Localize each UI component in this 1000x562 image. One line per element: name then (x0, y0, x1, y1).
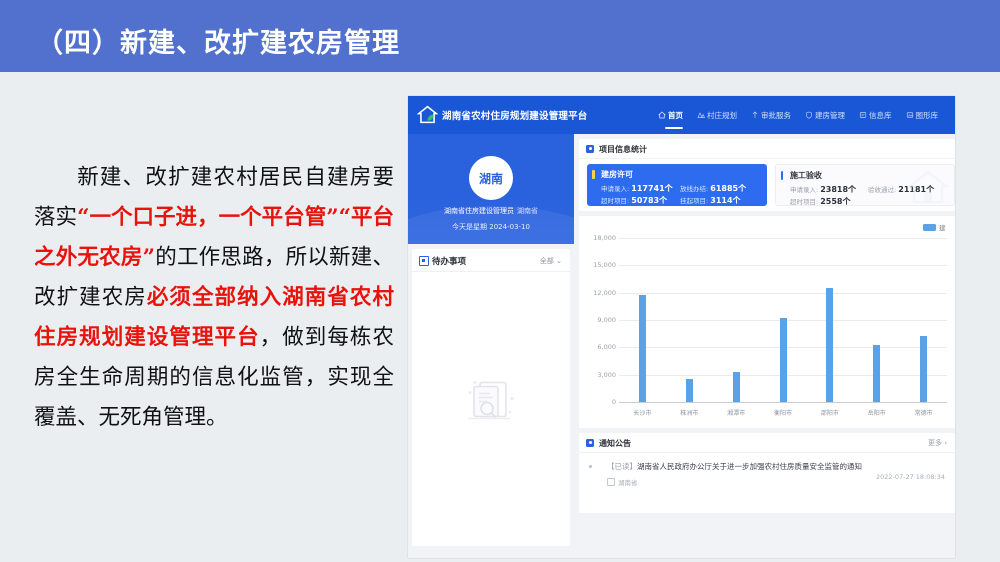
chart-bar-slot (900, 238, 947, 402)
chart-x-tick-label: 株洲市 (666, 404, 713, 424)
chart-x-tick-label: 湘潭市 (713, 404, 760, 424)
stat-item-label: 放线办结: (680, 185, 708, 193)
nav-item-home-label: 首页 (668, 110, 683, 121)
app-left-column: 湖南 湖南省住房建设管理员湖南省 今天是星期 2024-03-10 待办事项 全… (408, 134, 574, 558)
nav-item-approval-label: 审批服务 (761, 110, 791, 121)
stat-item: 挂起项目: 3114个 (680, 195, 759, 206)
tag-icon (607, 478, 615, 486)
avatar: 湖南 (469, 156, 513, 200)
notice-item-text: 【已读】湖南省人民政府办公厅关于进一步加强农村住房质量安全监管的通知 (607, 461, 947, 472)
chart-bar[interactable] (639, 295, 646, 403)
notice-item-date: 2022-07-27 18:08:34 (876, 473, 945, 481)
embedded-app-screenshot: 湖南省农村住房规划建设管理平台 首页 村庄规划 审批服务 (408, 96, 955, 558)
notice-item-title: 湖南省人民政府办公厅关于进一步加强农村住房质量安全监管的通知 (637, 462, 862, 471)
stat-item-value: 61885个 (710, 184, 746, 193)
list-item[interactable]: 【已读】湖南省人民政府办公厅关于进一步加强农村住房质量安全监管的通知 湖南省 2… (587, 461, 947, 487)
chart-x-tick-label: 长沙市 (619, 404, 666, 424)
stat-item: 申请录入: 23818个 (790, 184, 868, 196)
legend-swatch (923, 224, 936, 231)
notice-read-status: 【已读】 (607, 462, 637, 471)
nav-item-house-management[interactable]: 建房管理 (805, 110, 845, 121)
chart-bars (619, 238, 947, 402)
page-title: （四）新建、改扩建农房管理 (36, 21, 400, 60)
stat-card-building-permit-items: 申请录入: 117741个 放线办结: 61885个 超时项目: 50783个 … (601, 183, 759, 206)
stat-item-label: 超时项目: (601, 197, 629, 205)
home-icon (658, 111, 666, 119)
nav-item-house-management-label: 建房管理 (815, 110, 845, 121)
chart-x-tick-label: 岳阳市 (853, 404, 900, 424)
stat-item-value: 3114个 (710, 196, 740, 205)
chart-y-tick-label: 18,000 (593, 234, 616, 242)
stat-item-value: 2558个 (820, 197, 850, 206)
nav-item-graphics-library-label: 图形库 (916, 110, 939, 121)
stat-item-label: 申请录入: (790, 186, 818, 194)
stat-item-label: 超时项目: (790, 198, 818, 206)
stat-accent-bar (592, 170, 595, 179)
stats-icon (586, 145, 594, 153)
chart-bar[interactable] (920, 336, 927, 402)
project-stats-panel: 项目信息统计 建房许可 申请录入: 117741个 放线办结: 61885个 超… (579, 139, 955, 211)
nav-items: 首页 村庄规划 审批服务 建房管理 (658, 96, 938, 134)
stat-item: 放线办结: 61885个 (680, 183, 759, 195)
stat-item-label: 挂起项目: (680, 197, 708, 205)
stat-card-building-permit-title: 建房许可 (601, 169, 759, 180)
chart-y-tick-label: 9,000 (597, 316, 616, 324)
stat-item-label: 验收通过: (868, 186, 896, 194)
notice-more-link[interactable]: 更多 › (928, 438, 947, 448)
chart-x-tick-label: 常德市 (900, 404, 947, 424)
chart-bar[interactable] (686, 379, 693, 402)
checklist-icon (419, 256, 429, 266)
chart-bar[interactable] (826, 288, 833, 402)
approval-icon (751, 111, 759, 119)
announcement-icon (586, 439, 594, 447)
legend-label: 建 (939, 222, 949, 232)
profile-name-row: 湖南省住房建设管理员湖南省 (408, 206, 574, 216)
stat-accent-bar (781, 171, 784, 180)
village-plan-icon (697, 111, 705, 119)
todo-filter-dropdown[interactable]: 全部 ⌄ (540, 256, 562, 266)
notice-panel-header: 通知公告 更多 › (579, 433, 955, 453)
nav-item-graphics-library[interactable]: 图形库 (906, 110, 939, 121)
chart-bar[interactable] (733, 372, 740, 402)
todo-filter-label: 全部 (540, 257, 554, 265)
todo-panel-header: 待办事项 全部 ⌄ (412, 249, 570, 272)
notice-panel: 通知公告 更多 › 【已读】湖南省人民政府办公厅关于进一步加强农村住房质量安全监… (579, 433, 955, 513)
platform-name: 湖南省农村住房规划建设管理平台 (442, 108, 588, 122)
profile-org: 湖南省 (517, 207, 538, 215)
chart-plot-area: 03,0006,0009,00012,00015,00018,000 长沙市株洲… (579, 238, 955, 424)
nav-active-underline (665, 127, 683, 129)
profile-name: 湖南省住房建设管理员 (444, 207, 514, 215)
house-watermark-icon (906, 168, 950, 206)
list-bullet-icon (589, 465, 592, 468)
graphics-icon (906, 111, 914, 119)
nav-item-home[interactable]: 首页 (658, 110, 683, 121)
chart-bar-slot (760, 238, 807, 402)
nav-item-village-plan[interactable]: 村庄规划 (697, 110, 737, 121)
stat-item: 申请录入: 117741个 (601, 183, 680, 195)
user-profile-card: 湖南 湖南省住房建设管理员湖南省 今天是星期 2024-03-10 (408, 134, 574, 244)
chart-legend[interactable]: 建 (923, 222, 949, 232)
chart-bar-slot (619, 238, 666, 402)
chart-bar-slot (853, 238, 900, 402)
stat-item-value: 23818个 (820, 185, 856, 194)
house-leaf-logo-icon (417, 104, 438, 125)
stat-card-construction-acceptance[interactable]: 施工验收 申请录入: 23818个 验收通过: 21181个 超时项目: 255… (775, 164, 955, 206)
stat-item-value: 50783个 (631, 196, 667, 205)
todo-panel: 待办事项 全部 ⌄ (412, 249, 570, 546)
chart-y-tick-label: 6,000 (597, 343, 616, 351)
chart-bar[interactable] (873, 345, 880, 402)
chart-x-axis-labels: 长沙市株洲市湘潭市衡阳市邵阳市岳阳市常德市 (619, 404, 947, 424)
app-right-column: 项目信息统计 建房许可 申请录入: 117741个 放线办结: 61885个 超… (574, 134, 955, 558)
slide-body-text: 新建、改扩建农村居民自建房要落实“一个口子进，一个平台管”“平台之外无农房”的工… (34, 158, 394, 438)
stat-item: 超时项目: 2558个 (790, 196, 868, 206)
chart-bar-slot (666, 238, 713, 402)
nav-item-approval[interactable]: 审批服务 (751, 110, 791, 121)
chart-bar[interactable] (780, 318, 787, 402)
stat-item-label: 申请录入: (601, 185, 629, 193)
notice-tag-label: 湖南省 (618, 477, 638, 487)
chart-y-tick-label: 3,000 (597, 371, 616, 379)
todo-panel-title: 待办事项 (432, 255, 466, 267)
todo-empty-state (412, 373, 570, 434)
shield-house-icon (805, 111, 813, 119)
profile-date: 今天是星期 2024-03-10 (408, 222, 574, 232)
nav-item-info-library[interactable]: 信息库 (859, 110, 892, 121)
chart-y-tick-label: 0 (612, 398, 616, 406)
stat-card-building-permit[interactable]: 建房许可 申请录入: 117741个 放线办结: 61885个 超时项目: 50… (587, 164, 767, 206)
nav-item-village-plan-label: 村庄规划 (707, 110, 737, 121)
stat-item-value: 117741个 (631, 184, 672, 193)
notice-panel-title: 通知公告 (599, 438, 631, 449)
stat-item: 超时项目: 50783个 (601, 195, 680, 206)
chart-y-axis: 03,0006,0009,00012,00015,00018,000 (579, 238, 619, 402)
chart-x-tick-label: 邵阳市 (806, 404, 853, 424)
database-icon (859, 111, 867, 119)
project-stats-header: 项目信息统计 (579, 139, 955, 159)
app-top-nav: 湖南省农村住房规划建设管理平台 首页 村庄规划 审批服务 (408, 96, 955, 134)
chart-bar-slot (806, 238, 853, 402)
chart-bar-slot (713, 238, 760, 402)
empty-document-search-icon (460, 373, 522, 434)
chart-y-tick-label: 12,000 (593, 289, 616, 297)
chart-gridline (619, 402, 947, 403)
chart-x-tick-label: 衡阳市 (760, 404, 807, 424)
regional-bar-chart-panel: 建 03,0006,0009,00012,00015,00018,000 长沙市… (579, 216, 955, 428)
project-stats-title: 项目信息统计 (599, 144, 647, 155)
nav-item-info-library-label: 信息库 (869, 110, 892, 121)
stat-card-row: 建房许可 申请录入: 117741个 放线办结: 61885个 超时项目: 50… (587, 164, 955, 206)
chart-y-tick-label: 15,000 (593, 261, 616, 269)
